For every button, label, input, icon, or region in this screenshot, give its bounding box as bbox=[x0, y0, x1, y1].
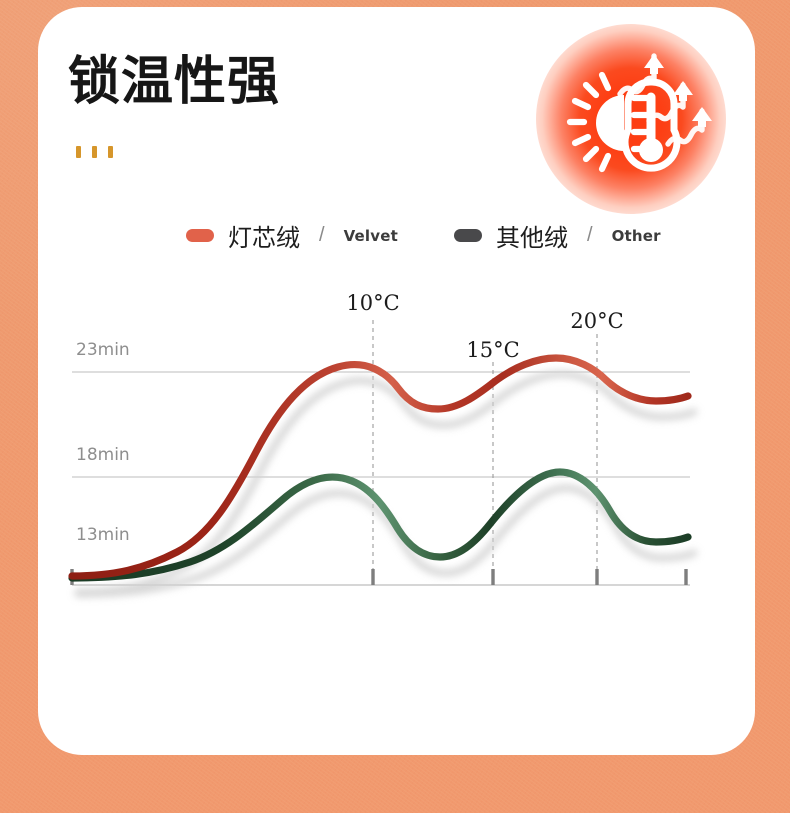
legend-label-cn: 其他绒 bbox=[496, 218, 568, 253]
legend-separator: / bbox=[319, 224, 325, 247]
legend-item-velvet[interactable]: 灯芯绒 / Velvet bbox=[186, 218, 398, 253]
pill-swatch-velvet bbox=[186, 229, 214, 242]
promo-card-root: 锁温性强 bbox=[0, 0, 790, 813]
annotation-10c: 10°C bbox=[346, 291, 399, 315]
thermometer-sun-rising-icon bbox=[536, 24, 726, 214]
page-title: 锁温性强 bbox=[68, 56, 280, 108]
thermometer-badge bbox=[536, 24, 726, 214]
thermometer-bulb bbox=[639, 138, 663, 162]
pill-swatch-other bbox=[454, 229, 482, 242]
title-accent-dashes bbox=[76, 146, 113, 158]
legend-label-en: Other bbox=[612, 227, 661, 245]
legend-item-other[interactable]: 其他绒 / Other bbox=[454, 218, 661, 253]
legend-label-en: Velvet bbox=[344, 227, 398, 245]
legend-separator: / bbox=[587, 224, 593, 247]
y-tick-label-23min: 23min bbox=[76, 340, 130, 360]
accent-dash bbox=[92, 146, 97, 158]
annotation-20c: 20°C bbox=[570, 309, 623, 333]
legend-label-cn: 灯芯绒 bbox=[228, 218, 300, 253]
sun-disc bbox=[596, 95, 624, 151]
annotation-15c: 15°C bbox=[466, 338, 519, 362]
y-tick-label-18min: 18min bbox=[76, 445, 130, 465]
chart-legend: 灯芯绒 / Velvet 其他绒 / Other bbox=[186, 218, 661, 253]
accent-dash bbox=[76, 146, 81, 158]
accent-dash bbox=[108, 146, 113, 158]
y-tick-label-13min: 13min bbox=[76, 525, 130, 545]
